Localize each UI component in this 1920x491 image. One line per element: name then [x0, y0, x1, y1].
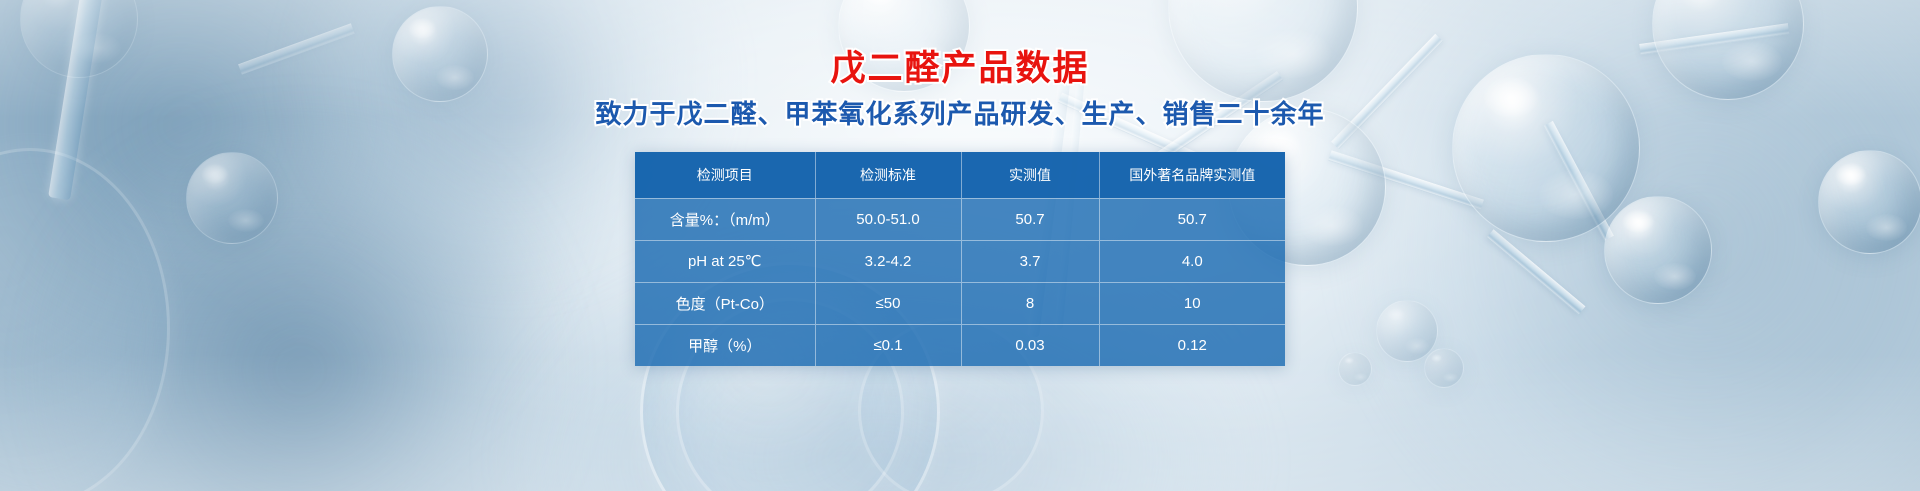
table-row: 甲醇（%） ≤0.1 0.03 0.12 [635, 324, 1285, 366]
table-cell: pH at 25℃ [635, 240, 815, 282]
table-cell: 3.7 [961, 240, 1099, 282]
table-cell: 10 [1099, 282, 1285, 324]
product-data-banner: 戊二醛产品数据 致力于戊二醛、甲苯氧化系列产品研发、生产、销售二十余年 检测项目… [0, 0, 1920, 491]
table-cell: 4.0 [1099, 240, 1285, 282]
page-subtitle: 致力于戊二醛、甲苯氧化系列产品研发、生产、销售二十余年 [595, 99, 1324, 130]
page-title: 戊二醛产品数据 [830, 49, 1089, 89]
table-body: 含量%：（m/m） 50.0-51.0 50.7 50.7 pH at 25℃ … [635, 198, 1285, 366]
table-cell: 50.7 [961, 198, 1099, 240]
table-header-row: 检测项目 检测标准 实测值 国外著名品牌实测值 [635, 152, 1285, 198]
table-header-cell: 检测标准 [815, 152, 961, 198]
table-cell: 0.03 [961, 324, 1099, 366]
table-row: pH at 25℃ 3.2-4.2 3.7 4.0 [635, 240, 1285, 282]
table-cell: 3.2-4.2 [815, 240, 961, 282]
table-cell: 甲醇（%） [635, 324, 815, 366]
table-cell: ≤50 [815, 282, 961, 324]
table-cell: ≤0.1 [815, 324, 961, 366]
table-row: 含量%：（m/m） 50.0-51.0 50.7 50.7 [635, 198, 1285, 240]
table-header: 检测项目 检测标准 实测值 国外著名品牌实测值 [635, 152, 1285, 198]
table-row: 色度（Pt-Co） ≤50 8 10 [635, 282, 1285, 324]
product-data-table: 检测项目 检测标准 实测值 国外著名品牌实测值 含量%：（m/m） 50.0-5… [635, 152, 1285, 366]
banner-content: 戊二醛产品数据 致力于戊二醛、甲苯氧化系列产品研发、生产、销售二十余年 检测项目… [0, 0, 1920, 491]
table-cell: 0.12 [1099, 324, 1285, 366]
table-cell: 含量%：（m/m） [635, 198, 815, 240]
table-cell: 8 [961, 282, 1099, 324]
table-cell: 色度（Pt-Co） [635, 282, 815, 324]
table-header-cell: 实测值 [961, 152, 1099, 198]
table-header-cell: 检测项目 [635, 152, 815, 198]
table-cell: 50.0-51.0 [815, 198, 961, 240]
table-cell: 50.7 [1099, 198, 1285, 240]
table-header-cell: 国外著名品牌实测值 [1099, 152, 1285, 198]
